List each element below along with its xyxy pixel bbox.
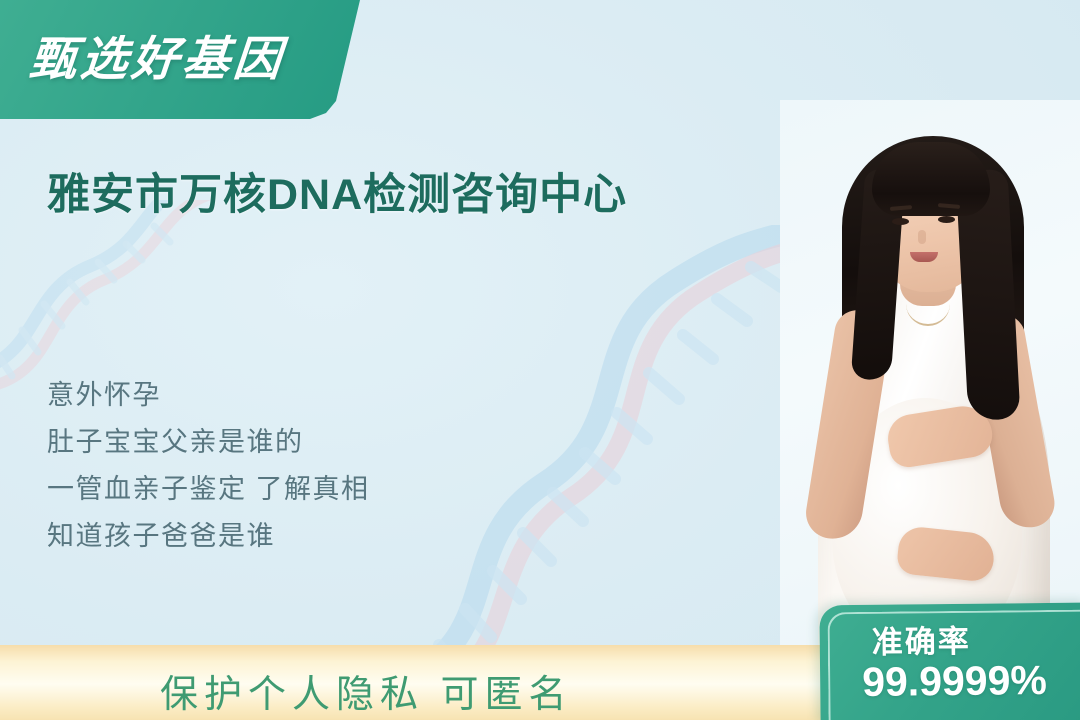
copy-line-2: 肚子宝宝父亲是谁的: [47, 419, 370, 466]
copy-line-3: 一管血亲子鉴定 了解真相: [47, 466, 370, 513]
copy-line-4: 知道孩子爸爸是谁: [47, 513, 370, 560]
accuracy-value: 99.9999%: [862, 657, 1047, 706]
brand-ribbon: 甄选好基因: [0, 0, 360, 119]
left-eye: [892, 218, 909, 225]
privacy-slogan: 保护个人隐私 可匿名: [160, 663, 573, 718]
copy-line-1: 意外怀孕: [47, 372, 370, 419]
page-title: 雅安市万核DNA检测咨询中心: [47, 160, 627, 222]
dna-helix-large-center-icon: [395, 225, 825, 695]
nose: [918, 230, 926, 244]
poster-canvas: 甄选好基因 雅安市万核DNA检测咨询中心 意外怀孕 肚子宝宝父亲是谁的 一管血亲…: [0, 0, 1080, 720]
hair-fringe: [872, 142, 990, 216]
right-eye: [938, 216, 955, 223]
brand-name: 甄选好基因: [27, 20, 288, 89]
accuracy-badge: 准确率 99.9999%: [819, 603, 1080, 720]
footer-banner: 保护个人隐私 可匿名: [0, 645, 828, 720]
body-copy: 意外怀孕 肚子宝宝父亲是谁的 一管血亲子鉴定 了解真相 知道孩子爸爸是谁: [47, 372, 370, 560]
accuracy-label: 准确率: [872, 616, 971, 662]
dna-helix-small-left-icon: [0, 200, 230, 390]
